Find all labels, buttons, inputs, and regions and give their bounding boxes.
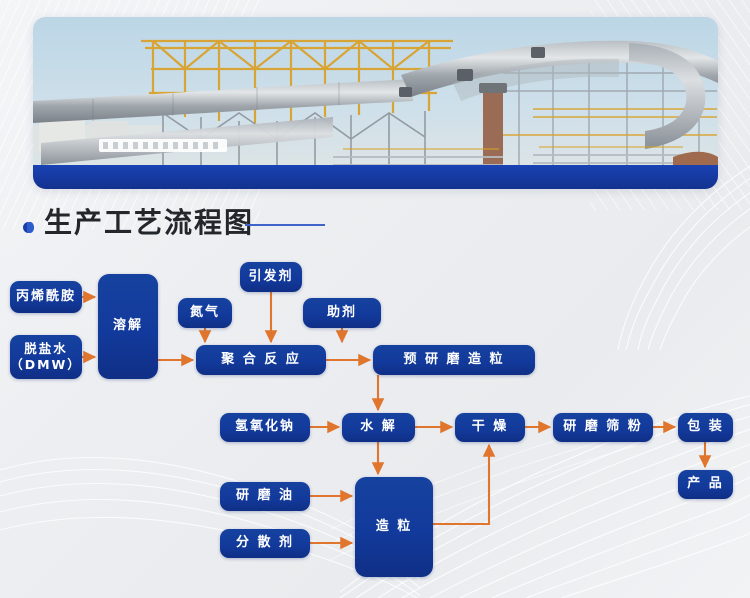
- node-pre-grind-granulation[interactable]: 预 研 磨 造 粒: [373, 345, 535, 375]
- node-drying[interactable]: 干 燥: [455, 413, 525, 442]
- page-background: 生产工艺流程图: [0, 0, 750, 598]
- node-packaging[interactable]: 包 装: [678, 413, 733, 442]
- process-flow-diagram: 丙烯酰胺 脱盐水 （DMW） 溶解 氮气 引发剂 助剂 聚 合 反 应 预 研 …: [0, 0, 750, 598]
- node-acrylamide[interactable]: 丙烯酰胺: [10, 281, 82, 313]
- node-initiator[interactable]: 引发剂: [240, 262, 302, 292]
- node-hydrolysis[interactable]: 水 解: [342, 413, 415, 442]
- node-product[interactable]: 产 品: [678, 470, 733, 499]
- node-granulation[interactable]: 造 粒: [355, 477, 433, 577]
- node-additive[interactable]: 助剂: [303, 298, 381, 328]
- node-grinding-oil[interactable]: 研 磨 油: [220, 482, 310, 511]
- node-dissolve[interactable]: 溶解: [98, 274, 158, 379]
- node-polymerization[interactable]: 聚 合 反 应: [196, 345, 326, 375]
- node-nitrogen[interactable]: 氮气: [178, 298, 232, 328]
- node-dispersant[interactable]: 分 散 剂: [220, 529, 310, 558]
- node-dmw[interactable]: 脱盐水 （DMW）: [10, 335, 82, 379]
- node-sodium-hydroxide[interactable]: 氢氧化钠: [220, 413, 310, 442]
- node-grinding-sieving[interactable]: 研 磨 筛 粉: [553, 413, 653, 442]
